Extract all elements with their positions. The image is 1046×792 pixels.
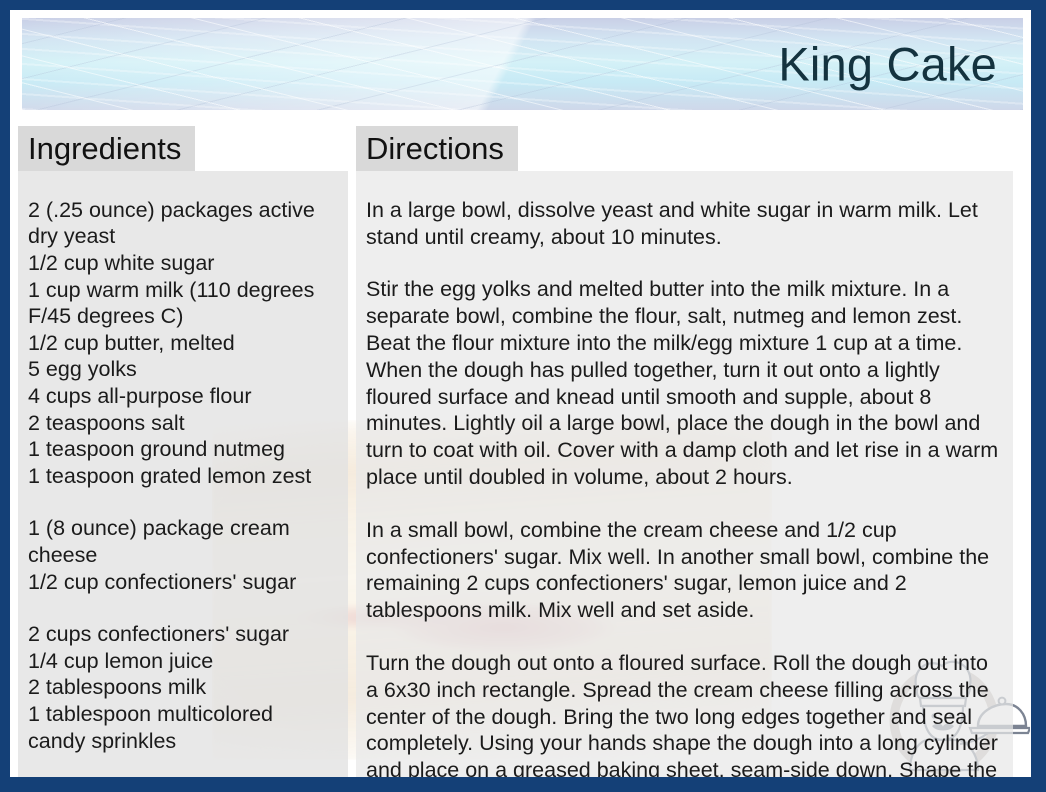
recipe-card: King Cake Ingredients 2 (.25 ounce) pack… xyxy=(0,0,1046,792)
ingredient-item: 1/2 cup butter, melted xyxy=(28,330,334,357)
ingredient-item: 2 tablespoons milk xyxy=(28,674,334,701)
frame-top-border xyxy=(0,0,1046,10)
ingredient-item: 1 cup warm milk (110 degrees F/45 degree… xyxy=(28,277,334,330)
direction-paragraph: In a large bowl, dissolve yeast and whit… xyxy=(366,197,999,251)
ingredient-item: 1 teaspoon grated lemon zest xyxy=(28,463,334,490)
page-title: King Cake xyxy=(778,37,997,92)
ingredients-heading: Ingredients xyxy=(18,126,195,171)
ingredients-list: 2 (.25 ounce) packages active dry yeast1… xyxy=(18,171,348,792)
ingredient-item: 1/2 cup confectioners' sugar xyxy=(28,569,334,596)
direction-paragraph: Turn the dough out onto a floured surfac… xyxy=(366,650,999,792)
ingredient-item: 1 (8 ounce) package cream cheese xyxy=(28,515,334,568)
ingredients-panel: Ingredients 2 (.25 ounce) packages activ… xyxy=(18,126,348,792)
direction-paragraph: In a small bowl, combine the cream chees… xyxy=(366,517,999,624)
title-banner: King Cake xyxy=(22,18,1023,110)
ingredient-group-gap xyxy=(28,595,334,621)
ingredient-item: 1 tablespoon multicolored candy sprinkle… xyxy=(28,701,334,754)
ingredient-group-gap xyxy=(28,489,334,515)
directions-panel: Directions In a large bowl, dissolve yea… xyxy=(356,126,1013,792)
ingredient-item: 4 cups all-purpose flour xyxy=(28,383,334,410)
frame-left-border xyxy=(0,0,10,792)
ingredient-item: 2 (.25 ounce) packages active dry yeast xyxy=(28,197,334,250)
directions-heading: Directions xyxy=(356,126,518,171)
ingredient-item: 5 egg yolks xyxy=(28,356,334,383)
direction-paragraph: Stir the egg yolks and melted butter int… xyxy=(366,276,999,490)
directions-text: In a large bowl, dissolve yeast and whit… xyxy=(356,171,1013,792)
frame-right-border xyxy=(1031,0,1046,792)
ingredient-item: 1 teaspoon ground nutmeg xyxy=(28,436,334,463)
ingredient-item: 1/2 cup white sugar xyxy=(28,250,334,277)
ingredient-item: 1/4 cup lemon juice xyxy=(28,648,334,675)
ingredient-item: 2 cups confectioners' sugar xyxy=(28,621,334,648)
ingredient-item: 2 teaspoons salt xyxy=(28,410,334,437)
